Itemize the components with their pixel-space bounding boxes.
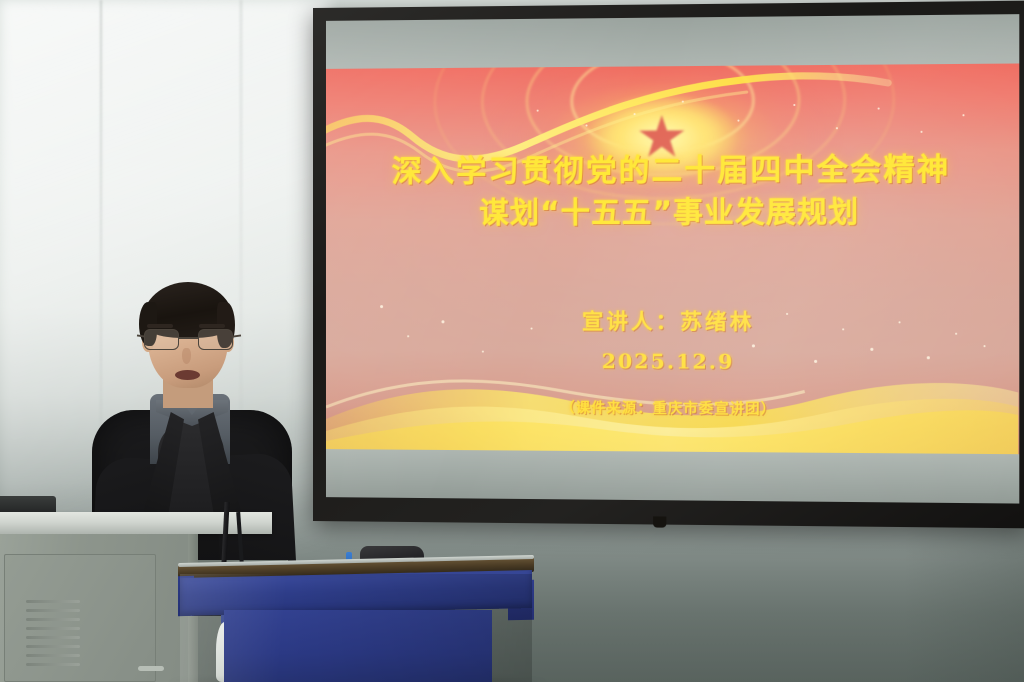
- glasses-lens-right: [198, 329, 233, 350]
- glasses-arm-right: [233, 334, 241, 337]
- screen-top-band: [326, 14, 1019, 69]
- slide-text-layer: 深入学习贯彻党的二十届四中全会精神 谋划“十五五”事业发展规划 宣讲人：苏绪林 …: [326, 63, 1019, 454]
- lecture-hall-scene: 深入学习贯彻党的二十届四中全会精神 谋划“十五五”事业发展规划 宣讲人：苏绪林 …: [0, 0, 1024, 682]
- desk-vent-grille: [26, 600, 80, 682]
- slide-title-line-1: 深入学习贯彻党的二十届四中全会精神: [326, 150, 1019, 194]
- lectern-lower-body: [224, 610, 492, 682]
- presenter-eyebrow-right: [199, 324, 225, 328]
- desk-door-handle[interactable]: [138, 666, 164, 671]
- glasses-lens-left: [144, 329, 179, 350]
- presenter-mouth: [175, 370, 200, 380]
- slide-meta-block: 宣讲人：苏绪林 2025.12.9 （课件来源：重庆市委宣讲团）: [326, 305, 1019, 420]
- lectern: [178, 560, 534, 682]
- projected-slide: 深入学习贯彻党的二十届四中全会精神 谋划“十五五”事业发展规划 宣讲人：苏绪林 …: [326, 63, 1019, 454]
- slide-source-line: （课件来源：重庆市委宣讲团）: [326, 396, 1019, 420]
- projection-screen: 深入学习贯彻党的二十届四中全会精神 谋划“十五五”事业发展规划 宣讲人：苏绪林 …: [313, 1, 1024, 529]
- slide-date-line: 2025.12.9: [326, 348, 1019, 375]
- slide-title-line-2: 谋划“十五五”事业发展规划: [326, 192, 1019, 233]
- glasses-arm-left: [137, 334, 145, 337]
- screen-surface: 深入学习贯彻党的二十届四中全会精神 谋划“十五五”事业发展规划 宣讲人：苏绪林 …: [326, 14, 1019, 503]
- presenter-nose: [182, 348, 191, 364]
- slide-title-block: 深入学习贯彻党的二十届四中全会精神 谋划“十五五”事业发展规划: [326, 150, 1019, 233]
- slide-speaker-line: 宣讲人：苏绪林: [326, 305, 1019, 337]
- screen-frame: 深入学习贯彻党的二十届四中全会精神 谋划“十五五”事业发展规划 宣讲人：苏绪林 …: [313, 1, 1024, 529]
- glasses-bridge: [179, 337, 199, 339]
- presenter-eyebrow-left: [147, 324, 173, 328]
- screen-mount-tab: [653, 516, 666, 527]
- desk-top-surface: [0, 512, 272, 534]
